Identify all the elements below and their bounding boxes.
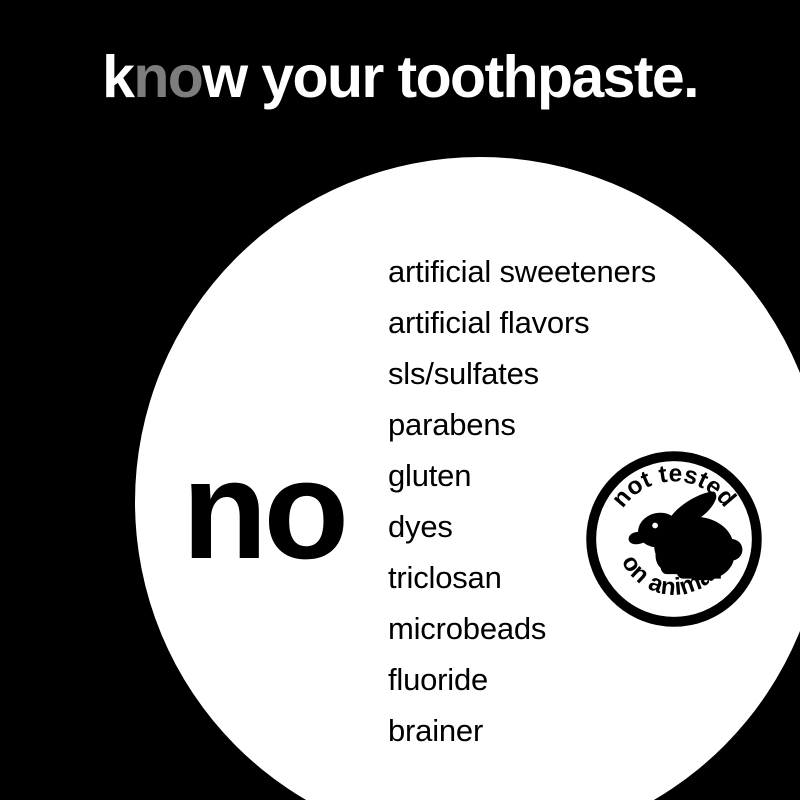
headline-segment-3: w your toothpaste. (202, 44, 698, 110)
list-item: artificial flavors (388, 297, 656, 348)
headline-segment-2: no (133, 44, 202, 110)
list-item: fluoride (388, 654, 656, 705)
list-item: sls/sulfates (388, 348, 656, 399)
page-title: know your toothpaste. (0, 48, 800, 107)
not-tested-on-animals-badge: not tested on animals (584, 449, 764, 629)
list-item: parabens (388, 399, 656, 450)
poster-canvas: know your toothpaste. no artificial swee… (0, 0, 800, 800)
list-item: artificial sweeteners (388, 246, 656, 297)
headline-segment-1: k (102, 44, 133, 110)
list-item: brainer (388, 705, 656, 756)
callout-no: no (182, 440, 345, 580)
